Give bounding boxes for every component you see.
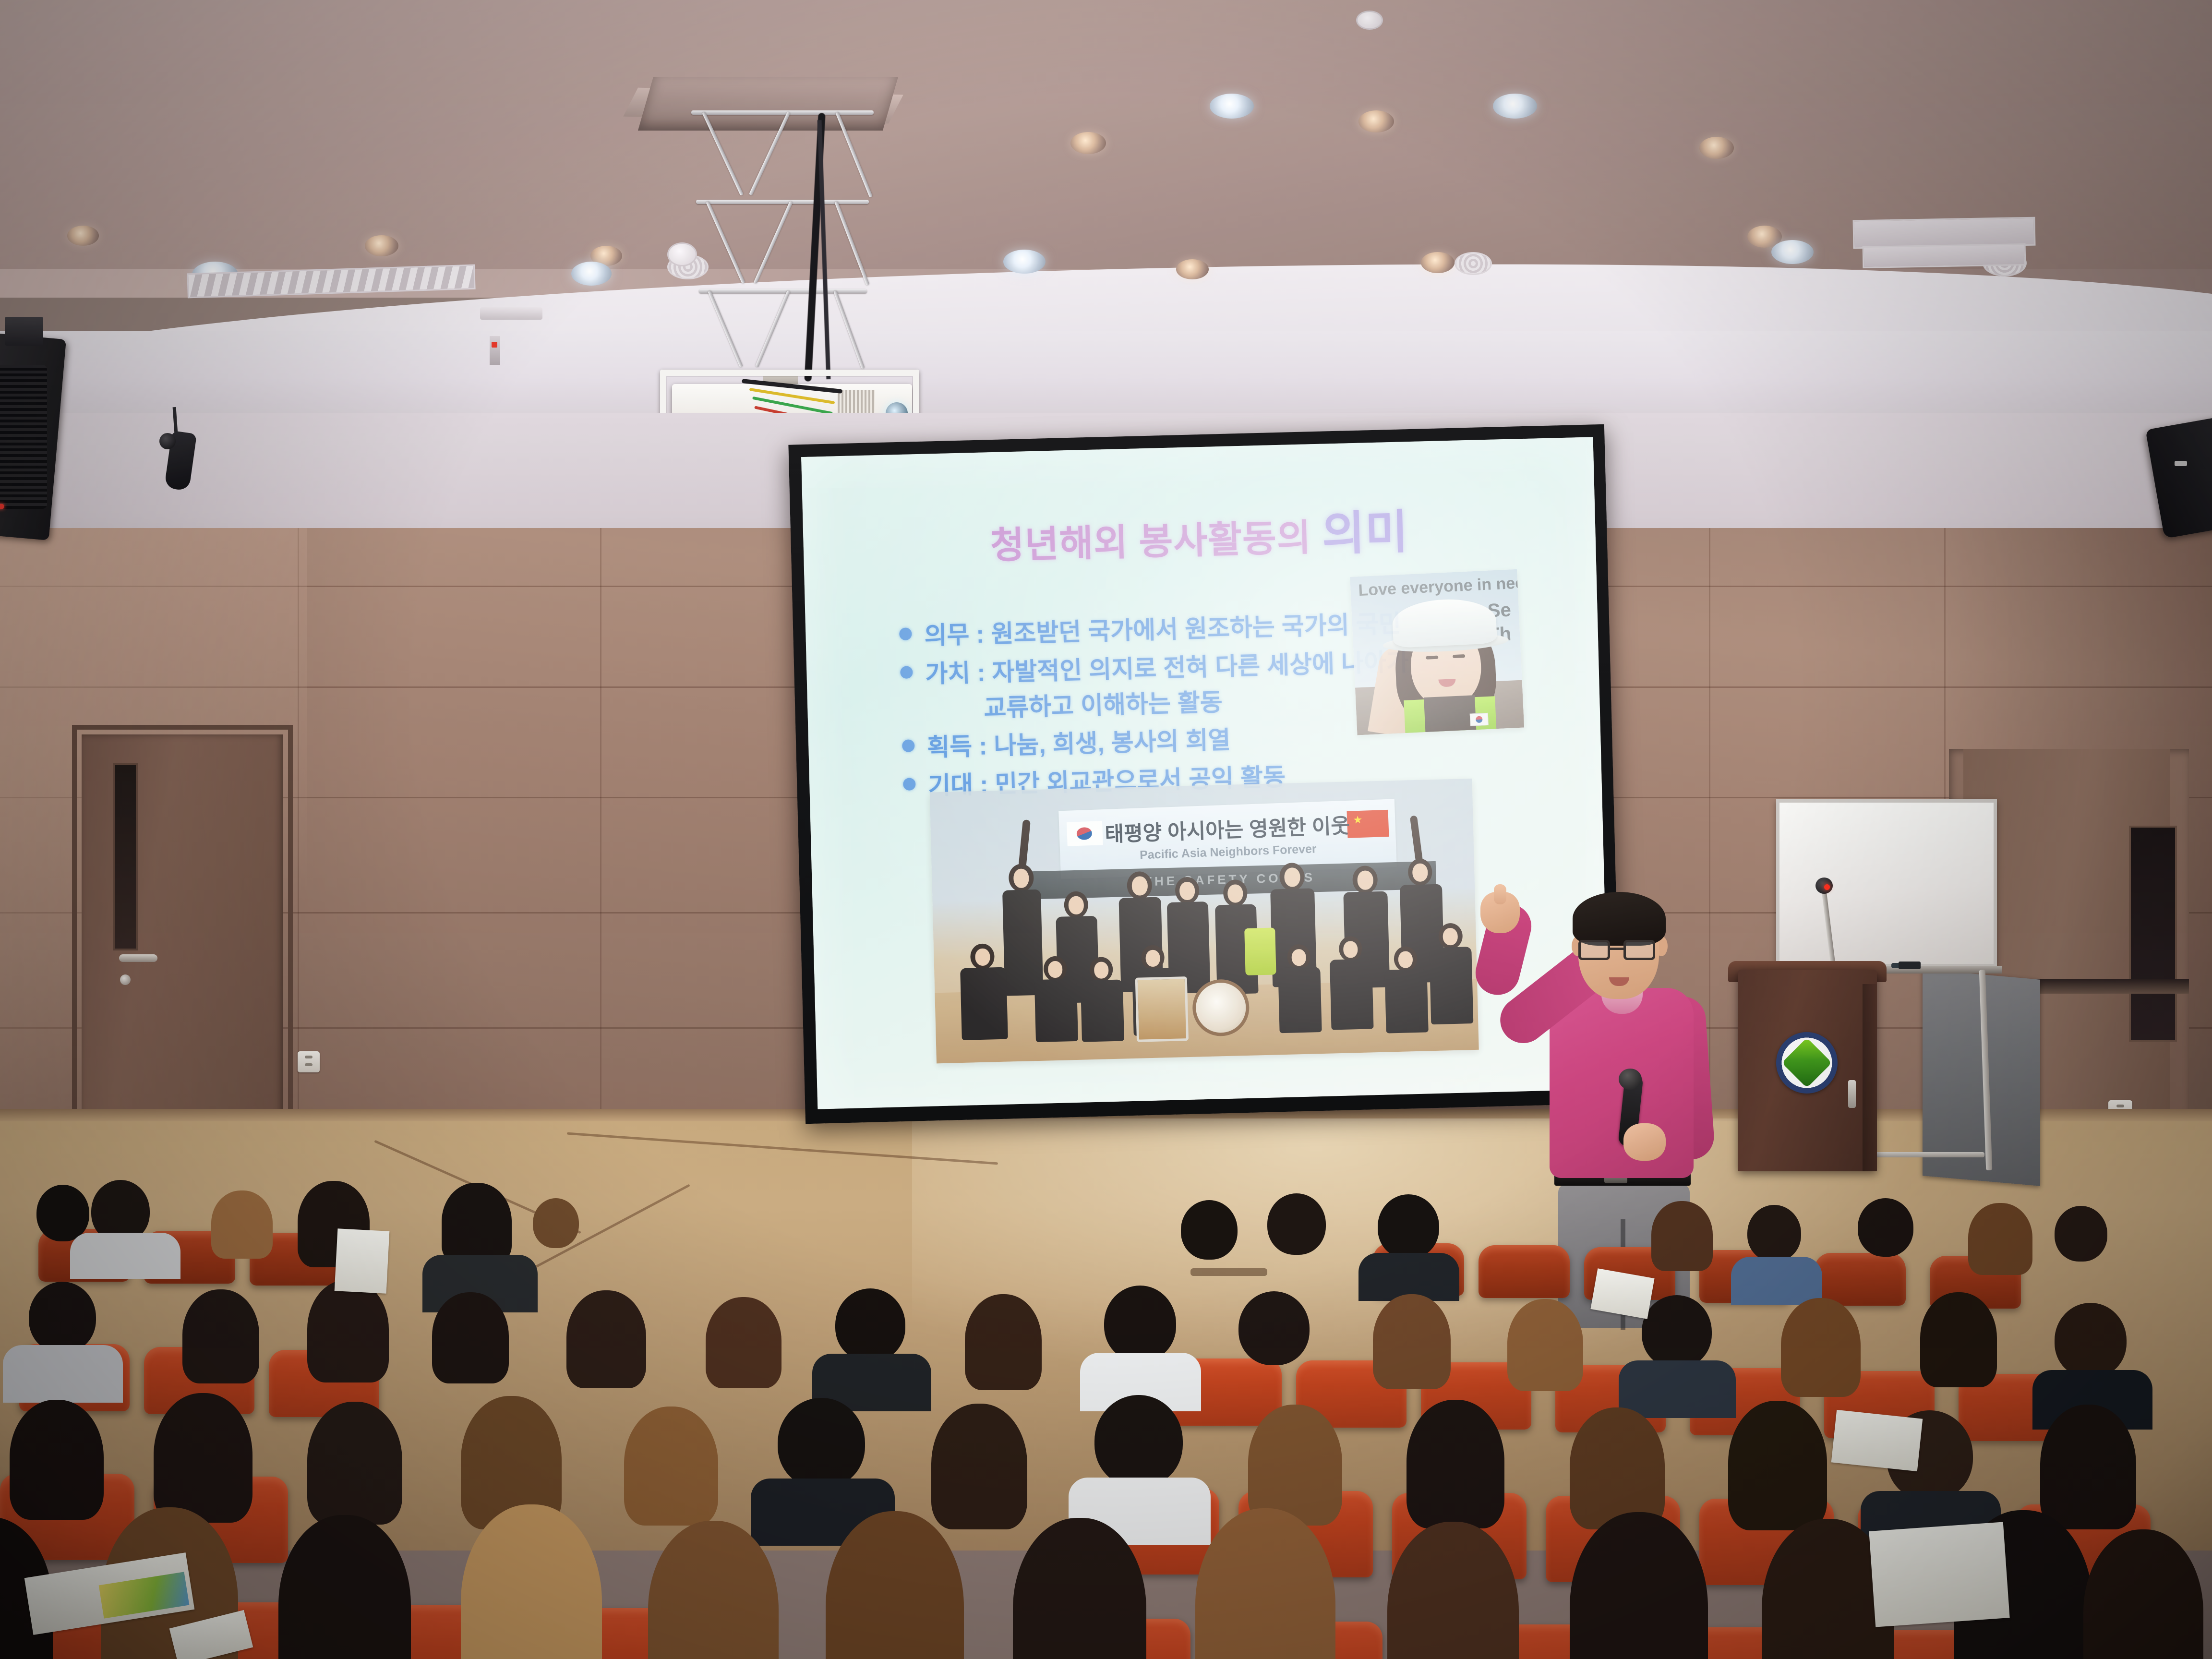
- speaker-label-icon: [2175, 461, 2187, 466]
- water-bottle[interactable]: [335, 1228, 390, 1293]
- auditorium-scene: 청년해외 봉사활동의 의미 의무 : 원조받던 국가에서 원조하는 국가의 국민…: [0, 0, 2212, 1659]
- handout-paper[interactable]: [1869, 1522, 2009, 1627]
- slide-title: 청년해외 봉사활동의 의미: [803, 489, 1596, 577]
- microphone-head-icon: [1619, 1069, 1642, 1090]
- ceiling-spot-light-icon: [1493, 94, 1537, 119]
- speaker-mount-bracket: [5, 317, 43, 346]
- projector-scissor-lift: [691, 110, 874, 379]
- bullet-dot-icon: [899, 627, 912, 640]
- slide-portrait-photo: Love everyone in nee Se Th: [1350, 569, 1524, 735]
- bullet-text: 의무 : 원조받던 국가에서 원조하는 국가의 국민: [924, 608, 1402, 652]
- ceiling-spot-light-icon: [571, 262, 612, 286]
- bullet-dot-icon: [900, 666, 913, 679]
- eyeglasses-bridge-icon: [1609, 948, 1625, 950]
- ceiling-strip-light-icon: [480, 307, 542, 320]
- photo-shirt: [1424, 695, 1476, 734]
- seat[interactable]: [1815, 1253, 1906, 1306]
- handout-paper[interactable]: [1831, 1410, 1923, 1471]
- slide-bullet-list: 의무 : 원조받던 국가에서 원조하는 국가의 국민 가치 : 자발적인 의지로…: [899, 608, 1394, 809]
- wall-outlet-icon: [298, 1051, 320, 1072]
- bullet-dot-icon: [902, 740, 915, 753]
- downlight-icon: [365, 235, 398, 256]
- bullet-text: 획득 : 나눔, 희생, 봉사의 희열: [927, 724, 1231, 764]
- korean-janggu-drum-icon: [1135, 976, 1189, 1042]
- exit-sign-mount-icon: [490, 336, 500, 365]
- presenter-pointing-finger: [1494, 884, 1506, 904]
- slide-title-accent: 의미: [1321, 505, 1409, 560]
- alarm-led-icon: [492, 342, 497, 348]
- slide-group-photo: ★ 태평양 아시아는 영원한 이웃 Pacific Asia Neighbors…: [930, 779, 1479, 1063]
- door-vision-panel-icon: [113, 763, 138, 950]
- downlight-icon: [1358, 110, 1394, 132]
- audience-seating-area: [0, 1104, 2212, 1659]
- downlight-icon: [1176, 259, 1209, 279]
- door-handle-icon[interactable]: [119, 954, 157, 962]
- photo-eye: [1453, 654, 1465, 658]
- downlight-icon: [1699, 137, 1734, 159]
- whiteboard-eraser-icon[interactable]: [1899, 962, 1921, 969]
- speaker-grill-icon: [0, 365, 47, 509]
- slide-title-main: 청년해외 봉사활동의: [990, 517, 1322, 566]
- ceiling-vent-panel-icon: [1863, 243, 2026, 268]
- bullet-text: 교류하고 이해하는 활동: [984, 686, 1223, 724]
- ceiling-spot-light-icon: [1210, 94, 1254, 119]
- microphone-led-icon: [1824, 884, 1830, 890]
- downlight-icon: [1070, 132, 1106, 154]
- speaker-power-led-icon: [0, 504, 4, 509]
- eyeglasses-icon: [1578, 940, 1610, 960]
- ceiling-spot-light-icon: [1771, 240, 1814, 264]
- smoke-detector-icon: [1356, 11, 1383, 30]
- camera-lens-icon: [159, 433, 176, 449]
- downlight-icon: [1421, 252, 1455, 273]
- whiteboard[interactable]: [1776, 799, 1997, 967]
- door-vision-panel-icon: [2129, 826, 2177, 1042]
- door-lock-icon[interactable]: [120, 974, 131, 985]
- air-vent-icon: [1455, 252, 1492, 275]
- photo-eye: [1426, 656, 1438, 660]
- seat[interactable]: [1479, 1245, 1570, 1298]
- left-exit-door[interactable]: [82, 734, 283, 1157]
- list-item-continuation: 교류하고 이해하는 활동: [959, 682, 1391, 725]
- group-photo-safety-vest: [1244, 927, 1276, 975]
- list-item: 의무 : 원조받던 국가에서 원조하는 국가의 국민: [899, 608, 1389, 653]
- list-item: 획득 : 나눔, 희생, 봉사의 희열: [902, 720, 1392, 765]
- downlight-icon: [67, 226, 99, 246]
- eyeglasses-icon: [1623, 940, 1655, 960]
- bullet-dot-icon: [903, 778, 916, 791]
- presenter-hair: [1573, 892, 1666, 946]
- ceiling-spot-light-icon: [1003, 250, 1046, 274]
